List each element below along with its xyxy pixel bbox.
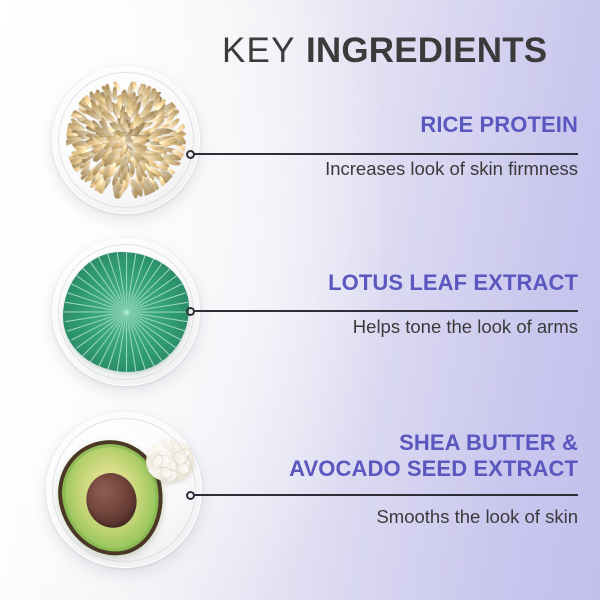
lotus-leaf-vein (126, 312, 177, 349)
rice-grain (112, 87, 116, 101)
avocado-pit (82, 469, 142, 533)
ingredient-benefit-avocado: Smooths the look of skin (289, 506, 578, 528)
ingredient-image-rice (52, 66, 200, 214)
page-title-light: KEY (222, 31, 306, 70)
shea-butter-blob (146, 440, 194, 482)
key-ingredients-infographic: KEY INGREDIENTS RICE PROTEIN Increases l… (0, 0, 600, 600)
ingredient-name-lotus: LOTUS LEAF EXTRACT (328, 270, 578, 296)
rice-grain (132, 81, 138, 92)
ingredient-name-shea: SHEA BUTTER & (289, 430, 578, 456)
rice-grains-heap (66, 81, 186, 199)
ingredient-entry-lotus: LOTUS LEAF EXTRACT Helps tone the look o… (328, 270, 578, 338)
ingredient-image-avocado (46, 412, 202, 568)
page-title-bold: INGREDIENTS (306, 31, 547, 70)
ingredient-name-avocado: AVOCADO SEED EXTRACT (289, 456, 578, 482)
ingredient-benefit-rice: Increases look of skin firmness (325, 158, 578, 180)
ingredient-name-rice: RICE PROTEIN (325, 112, 578, 138)
lotus-leaf-vein (65, 311, 127, 312)
ingredient-entry-avocado: SHEA BUTTER & AVOCADO SEED EXTRACT Smoot… (289, 430, 578, 528)
ingredient-image-lotus (52, 238, 200, 386)
page-title: KEY INGREDIENTS (222, 33, 547, 68)
lotus-leaf-shape (63, 252, 189, 372)
lotus-leaf-vein (126, 312, 163, 363)
ingredient-entry-rice: RICE PROTEIN Increases look of skin firm… (325, 112, 578, 180)
ingredient-benefit-lotus: Helps tone the look of arms (328, 316, 578, 338)
